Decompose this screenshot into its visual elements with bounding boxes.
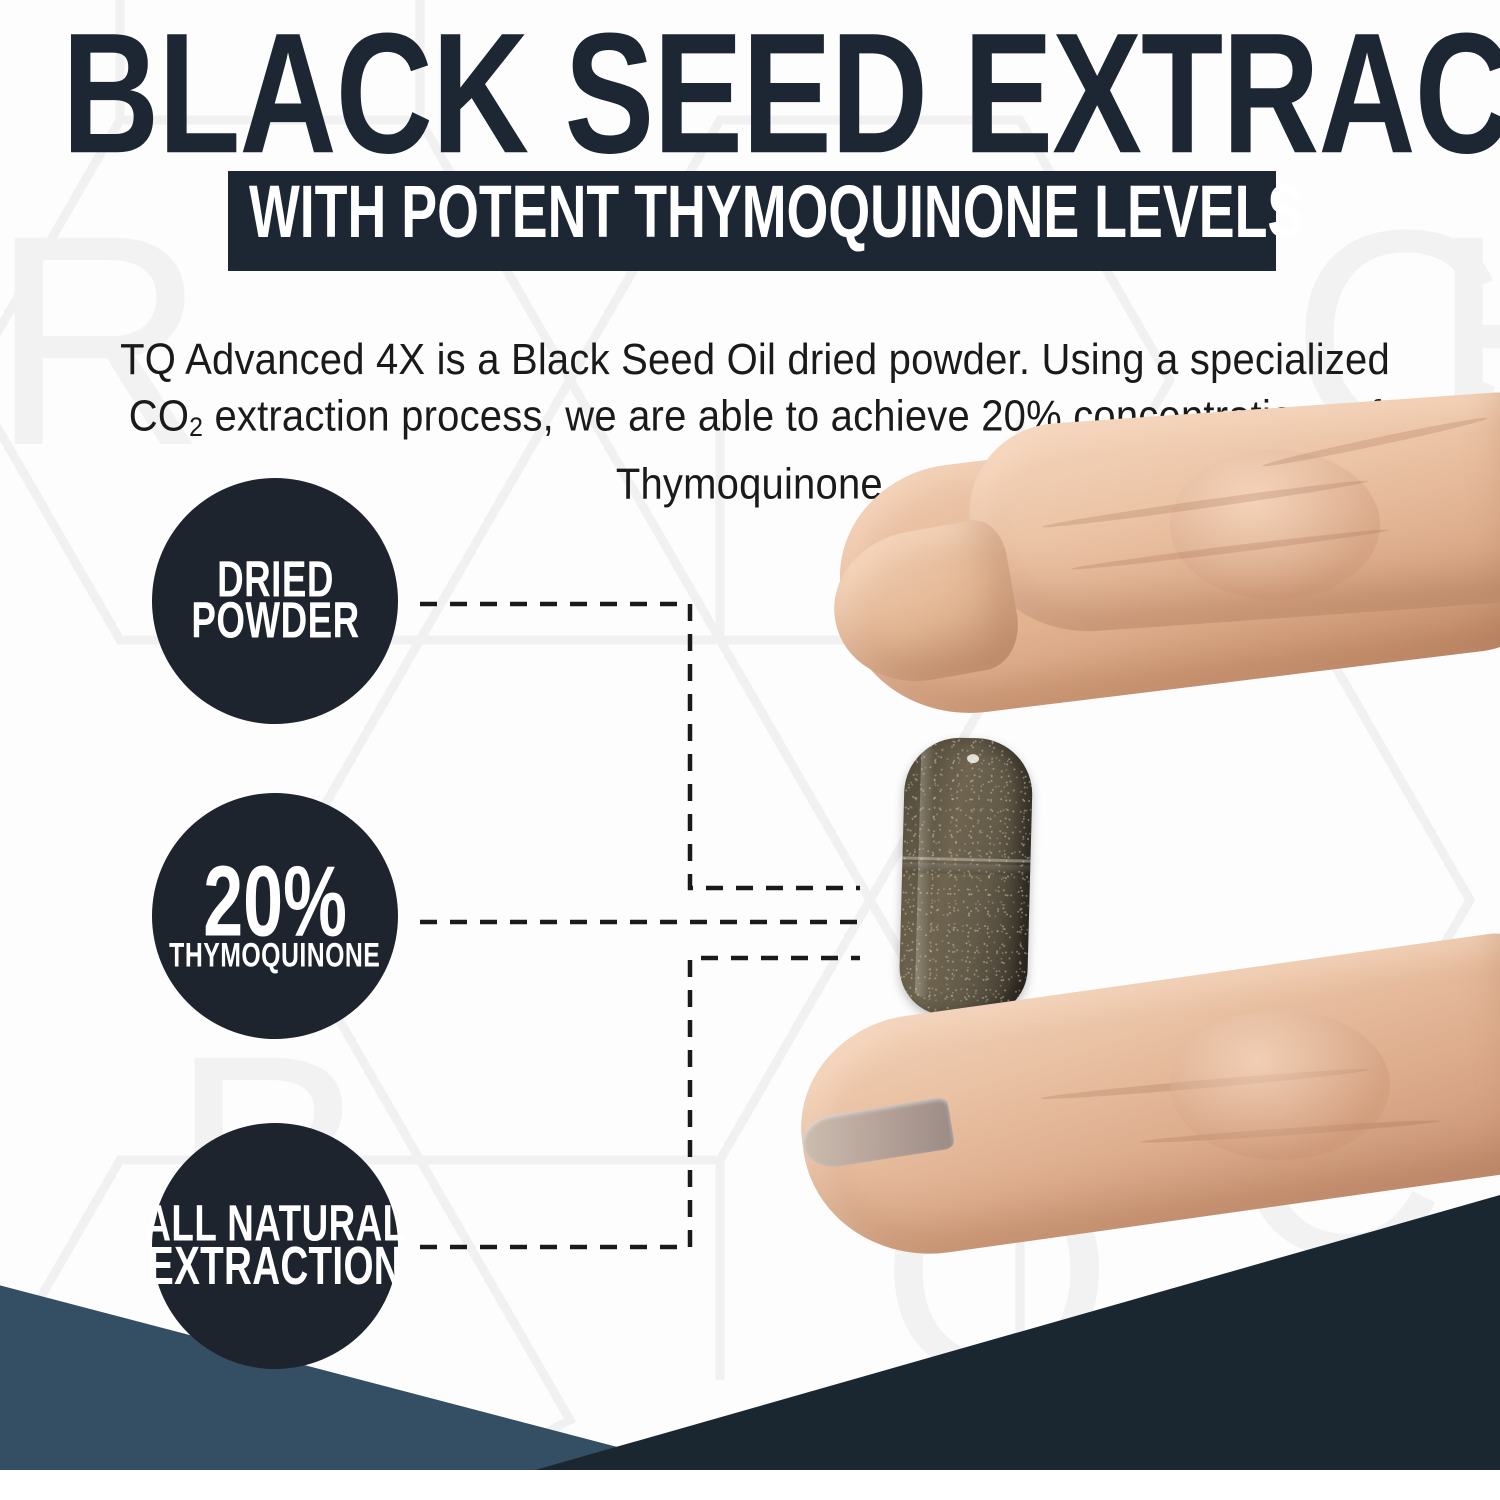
badge-line-2: THYMOQUINONE: [169, 938, 380, 973]
black-seed-extract-capsule: [898, 736, 1033, 1017]
capsule-specular-dot: [967, 754, 979, 763]
badge-thymoquinone-percentage[interactable]: 20% THYMOQUINONE: [152, 793, 398, 1039]
thumb: [787, 930, 1500, 1271]
badge-line-2: POWDER: [191, 595, 359, 647]
knuckle-highlight: [1170, 1010, 1390, 1160]
product-photo: [740, 380, 1500, 1340]
infographic-canvas: R C H B O C BLACK SEED EXTRACT POWDER WI…: [0, 0, 1500, 1500]
knuckle-highlight: [1170, 450, 1380, 600]
badge-all-natural-extraction[interactable]: ALL NATURAL EXTRACTION: [152, 1123, 398, 1369]
bottom-white-strip: [0, 1470, 1500, 1500]
badge-line-2: EXTRACTION: [148, 1239, 402, 1294]
badge-dried-powder[interactable]: DRIED POWDER: [152, 478, 398, 724]
